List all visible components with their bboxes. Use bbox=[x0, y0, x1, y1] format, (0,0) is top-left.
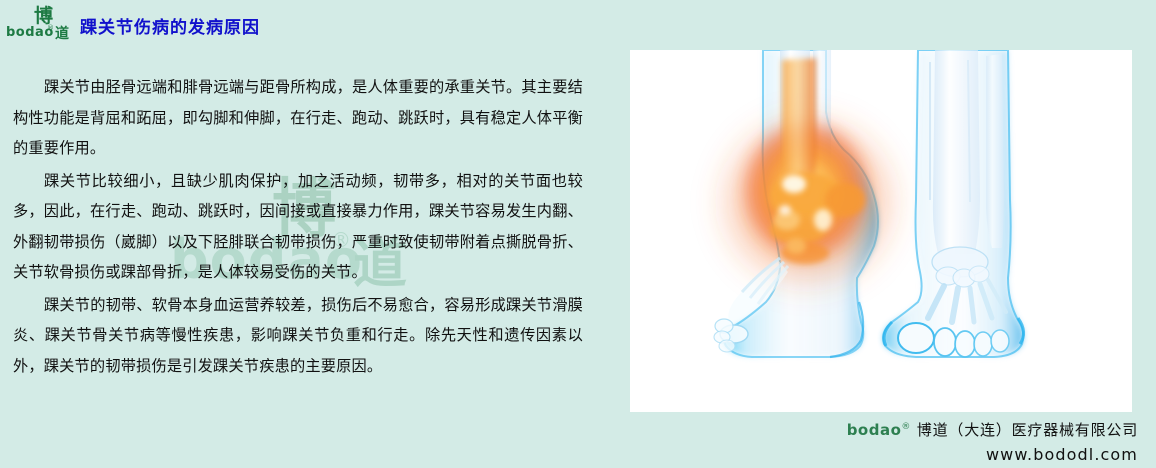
footer-registered-icon: ® bbox=[901, 422, 911, 432]
page-footer: bodao® 博道（大连）医疗器械有限公司 www.bododl.com bbox=[718, 416, 1138, 467]
big-toe bbox=[898, 323, 934, 353]
article-paragraph-3: 踝关节的韧带、软骨本身血运营养较差，损伤后不易愈合，容易形成踝关节滑膜炎、踝关节… bbox=[13, 290, 583, 382]
illustration-panel bbox=[630, 50, 1132, 412]
page-title: 踝关节伤病的发病原因 bbox=[80, 17, 260, 39]
footer-website: www.bododl.com bbox=[718, 443, 1138, 467]
article-paragraph-2: 踝关节比较细小，且缺少肌肉保护，加之活动频，韧带多，相对的关节面也较多，因此，在… bbox=[13, 166, 583, 288]
ankle-anatomy-xray-illustration bbox=[630, 50, 1132, 412]
article-body: 踝关节由胫骨远端和腓骨远端与距骨所构成，是人体重要的承重关节。其主要结构性功能是… bbox=[13, 72, 583, 383]
bodao-logo-icon: 博 bodao ® 道 bbox=[6, 7, 72, 45]
footer-wordmark: bodao bbox=[847, 421, 902, 439]
footer-company-name: 博道（大连）医疗器械有限公司 bbox=[917, 421, 1138, 439]
article-paragraph-1: 踝关节由胫骨远端和腓骨远端与距骨所构成，是人体重要的承重关节。其主要结构性功能是… bbox=[13, 72, 583, 164]
logo-registered-icon: ® bbox=[47, 24, 54, 32]
logo-dao-character: 道 bbox=[55, 27, 69, 41]
page-header: 博 bodao ® 道 踝关节伤病的发病原因 bbox=[0, 0, 1156, 50]
footer-company: bodao® 博道（大连）医疗器械有限公司 bbox=[718, 416, 1138, 441]
